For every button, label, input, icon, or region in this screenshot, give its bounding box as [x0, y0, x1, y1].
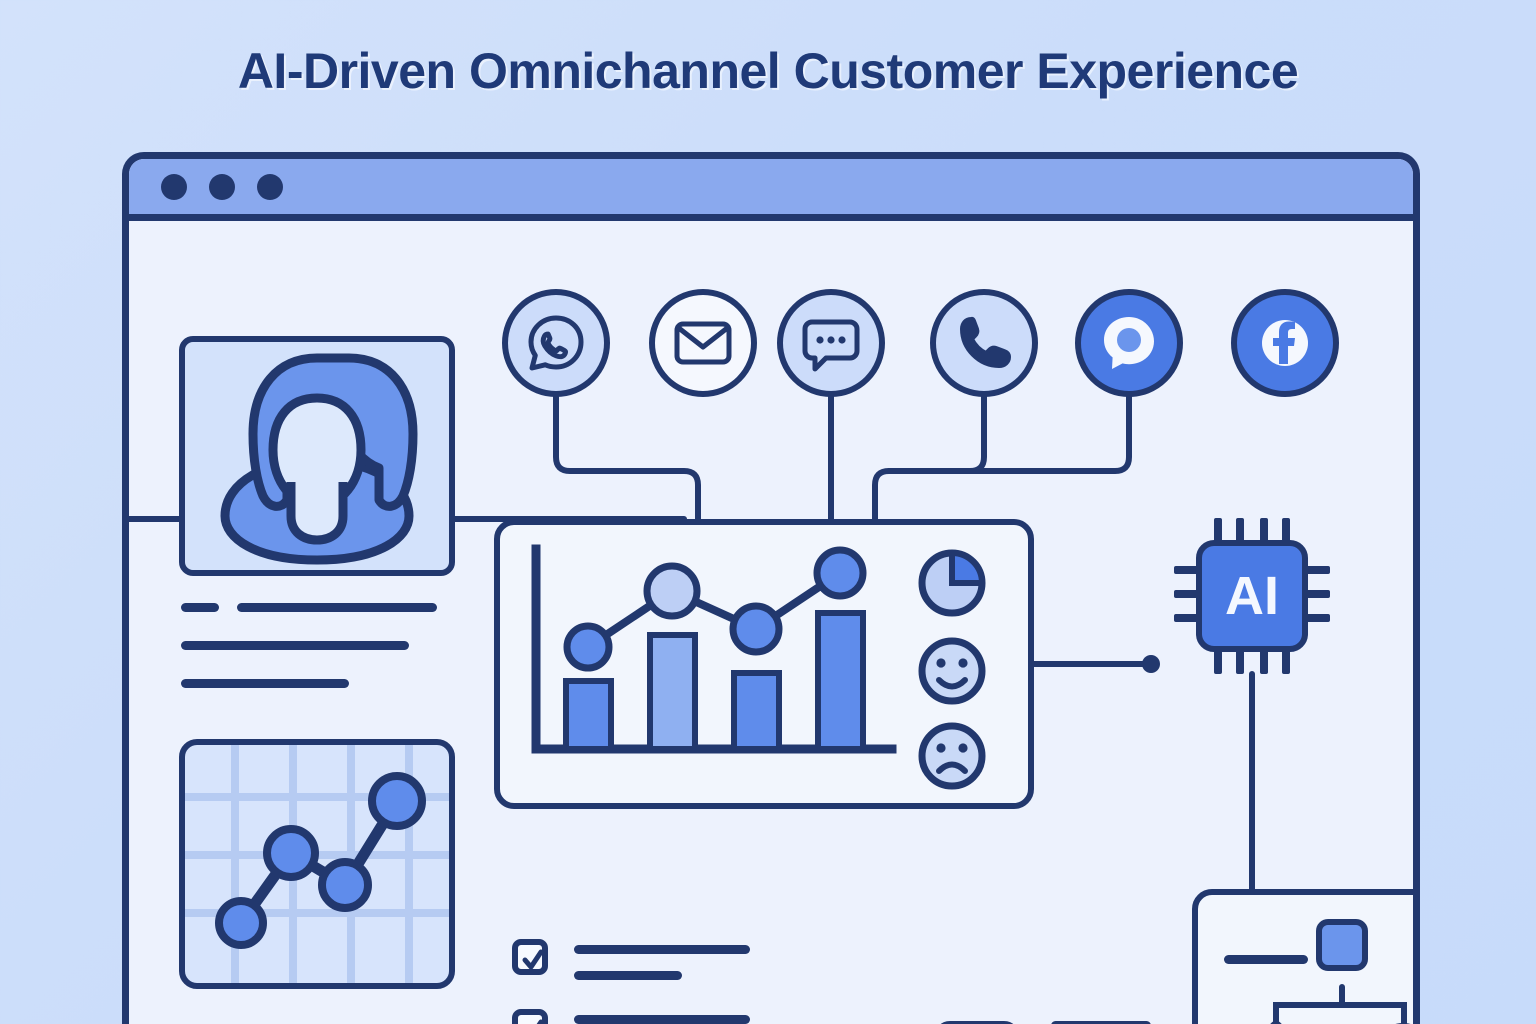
dashboard-chart — [500, 525, 1028, 803]
flow-connectors — [1198, 895, 1420, 1024]
customer-name-stub — [181, 603, 219, 612]
trend-line-chart-icon — [185, 745, 449, 983]
browser-canvas: AI — [129, 221, 1413, 1024]
browser-titlebar — [129, 159, 1413, 221]
window-dot-close[interactable] — [161, 174, 187, 200]
connector-endpoint-dot — [1142, 655, 1160, 673]
customer-detail-line-2 — [181, 679, 349, 688]
phone-icon — [955, 314, 1013, 372]
checklist-item-1-line-long — [574, 945, 750, 954]
messenger-bubble-icon — [1099, 313, 1159, 373]
line-point-2 — [647, 566, 697, 616]
user-avatar-icon — [185, 342, 449, 570]
channel-whatsapp[interactable] — [502, 289, 610, 397]
customer-text-lines — [181, 603, 461, 703]
customer-name-line — [237, 603, 437, 612]
flow-start-node[interactable] — [1316, 919, 1368, 971]
bar-3 — [734, 673, 779, 749]
ai-workflow-card[interactable] — [1192, 889, 1420, 1024]
checklist — [512, 939, 802, 1024]
window-dot-maximize[interactable] — [257, 174, 283, 200]
analytics-dashboard-card[interactable] — [494, 519, 1034, 809]
ai-chip[interactable]: AI — [1174, 518, 1330, 674]
checklist-item-1-line-short — [574, 971, 682, 980]
smiley-happy-icon — [922, 641, 982, 701]
ai-chip-label: AI — [1196, 540, 1308, 652]
page-title: AI-Driven Omnichannel Customer Experienc… — [0, 42, 1536, 100]
mini-trend-chart-card[interactable] — [179, 739, 455, 989]
channel-chat[interactable] — [777, 289, 885, 397]
checkbox-checked-icon — [521, 948, 545, 972]
bar-2 — [650, 635, 695, 749]
checklist-checkbox-2[interactable] — [512, 1009, 548, 1024]
checkbox-checked-icon — [521, 1018, 545, 1024]
browser-window: AI — [122, 152, 1420, 1024]
customer-detail-line-1 — [181, 641, 409, 650]
line-point-3 — [733, 606, 779, 652]
envelope-icon — [673, 319, 733, 367]
checklist-checkbox-1[interactable] — [512, 939, 548, 975]
bar-1 — [566, 681, 611, 749]
window-dot-minimize[interactable] — [209, 174, 235, 200]
customer-avatar-card — [179, 336, 455, 576]
facebook-f-icon — [1254, 312, 1316, 374]
chat-bubble-dots-icon — [800, 312, 862, 374]
line-point-1 — [567, 626, 609, 668]
channel-phone[interactable] — [930, 289, 1038, 397]
pie-chart-icon — [922, 553, 982, 613]
channel-facebook[interactable] — [1231, 289, 1339, 397]
channel-messenger[interactable] — [1075, 289, 1183, 397]
line-point-4 — [817, 550, 863, 596]
whatsapp-icon — [525, 312, 587, 374]
smiley-sad-icon — [922, 726, 982, 786]
bar-4 — [818, 613, 863, 749]
channel-email[interactable] — [649, 289, 757, 397]
checklist-item-2-line-long — [574, 1015, 750, 1024]
